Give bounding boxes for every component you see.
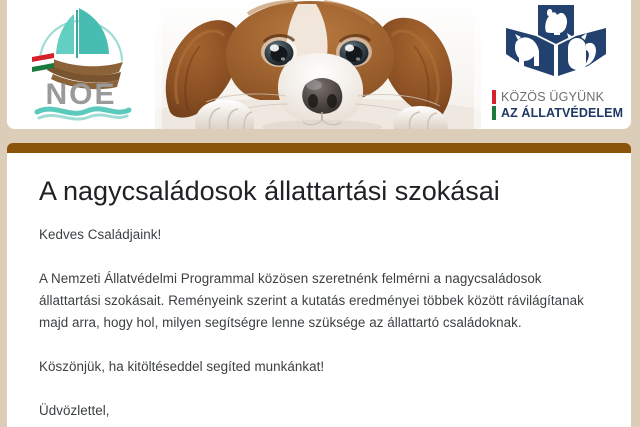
kozos-text-line1: KÖZÖS ÜGYÜNK — [501, 90, 604, 104]
signoff-paragraph: Üdvözlettel, — [39, 400, 599, 422]
form-accent-bar — [7, 143, 631, 153]
intro-paragraph: A Nemzeti Állatvédelmi Programmal közöse… — [39, 268, 599, 334]
form-content-card: A nagycsaládosok állattartási szokásai K… — [7, 153, 631, 427]
page-root: NOE — [0, 0, 640, 427]
kozos-text-line2: AZ ÁLLATVÉDELEM — [501, 106, 623, 120]
svg-text:NOE: NOE — [45, 78, 116, 111]
thanks-paragraph: Köszönjük, ha kitöltéseddel segíted munk… — [39, 356, 599, 378]
kozos-ugyunk-logo: KÖZÖS ÜGYÜNK AZ ÁLLATVÉDELEM — [481, 0, 631, 129]
animal-protection-cube-icon — [502, 4, 610, 88]
page-title: A nagycsaládosok állattartási szokásai — [39, 153, 599, 208]
dog-banner-photo — [155, 0, 481, 129]
kozos-wordmark: KÖZÖS ÜGYÜNK AZ ÁLLATVÉDELEM — [492, 89, 620, 121]
greeting-paragraph: Kedves Családjaink! — [39, 224, 599, 246]
header-banner-card: NOE — [7, 0, 631, 129]
kozos-line-top: KÖZÖS ÜGYÜNK — [492, 89, 620, 105]
noe-logo: NOE — [7, 0, 155, 129]
kozos-line-bottom: AZ ÁLLATVÉDELEM — [492, 105, 620, 121]
green-bar-icon — [492, 106, 496, 120]
red-bar-icon — [492, 90, 496, 104]
header-inner: NOE — [7, 0, 631, 129]
form-description: Kedves Családjaink! A Nemzeti Állatvédel… — [39, 224, 599, 422]
